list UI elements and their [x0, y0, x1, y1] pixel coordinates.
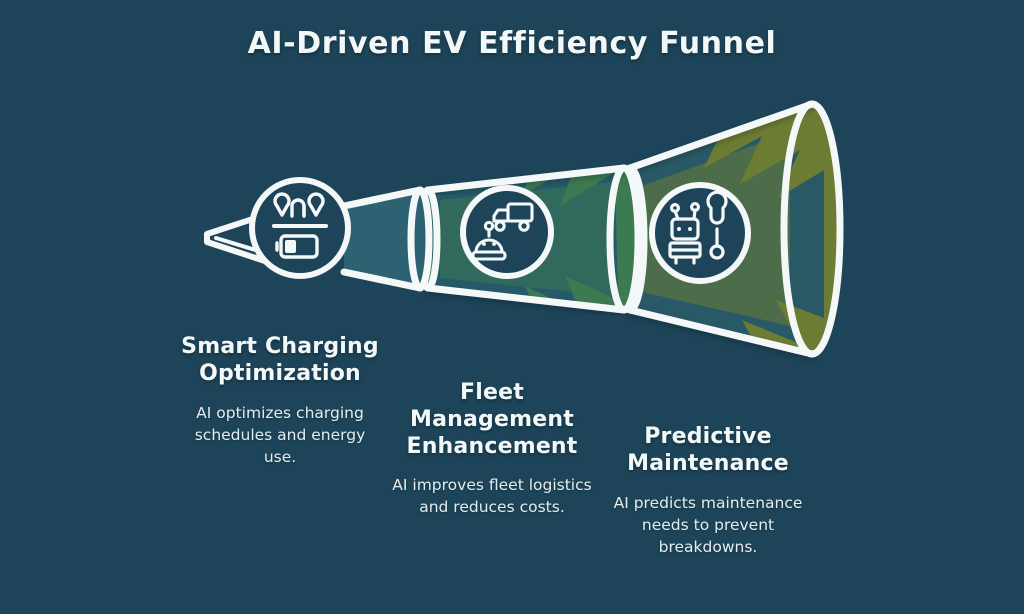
caption-title: Smart Charging Optimization	[178, 334, 382, 388]
icon-circle-fleet[interactable]	[463, 188, 551, 276]
funnel-caption-2: Fleet Management Enhancement AI improves…	[392, 380, 592, 518]
funnel-caption-1: Smart Charging Optimization AI optimizes…	[178, 334, 382, 468]
caption-title: Predictive Maintenance	[605, 424, 811, 478]
caption-description: AI optimizes charging schedules and ener…	[178, 402, 382, 468]
icon-circle-maintenance[interactable]	[652, 185, 748, 281]
funnel-segment-1[interactable]	[344, 190, 429, 288]
funnel-caption-3: Predictive Maintenance AI predicts maint…	[605, 424, 811, 558]
icon-circle-charging[interactable]	[252, 180, 348, 276]
caption-description: AI predicts maintenance needs to prevent…	[605, 492, 811, 558]
caption-title: Fleet Management Enhancement	[392, 380, 592, 460]
caption-description: AI improves fleet logistics and reduces …	[392, 474, 592, 518]
funnel-diagram	[0, 0, 1024, 614]
infographic-canvas: AI-Driven EV Efficiency Funnel	[0, 0, 1024, 614]
